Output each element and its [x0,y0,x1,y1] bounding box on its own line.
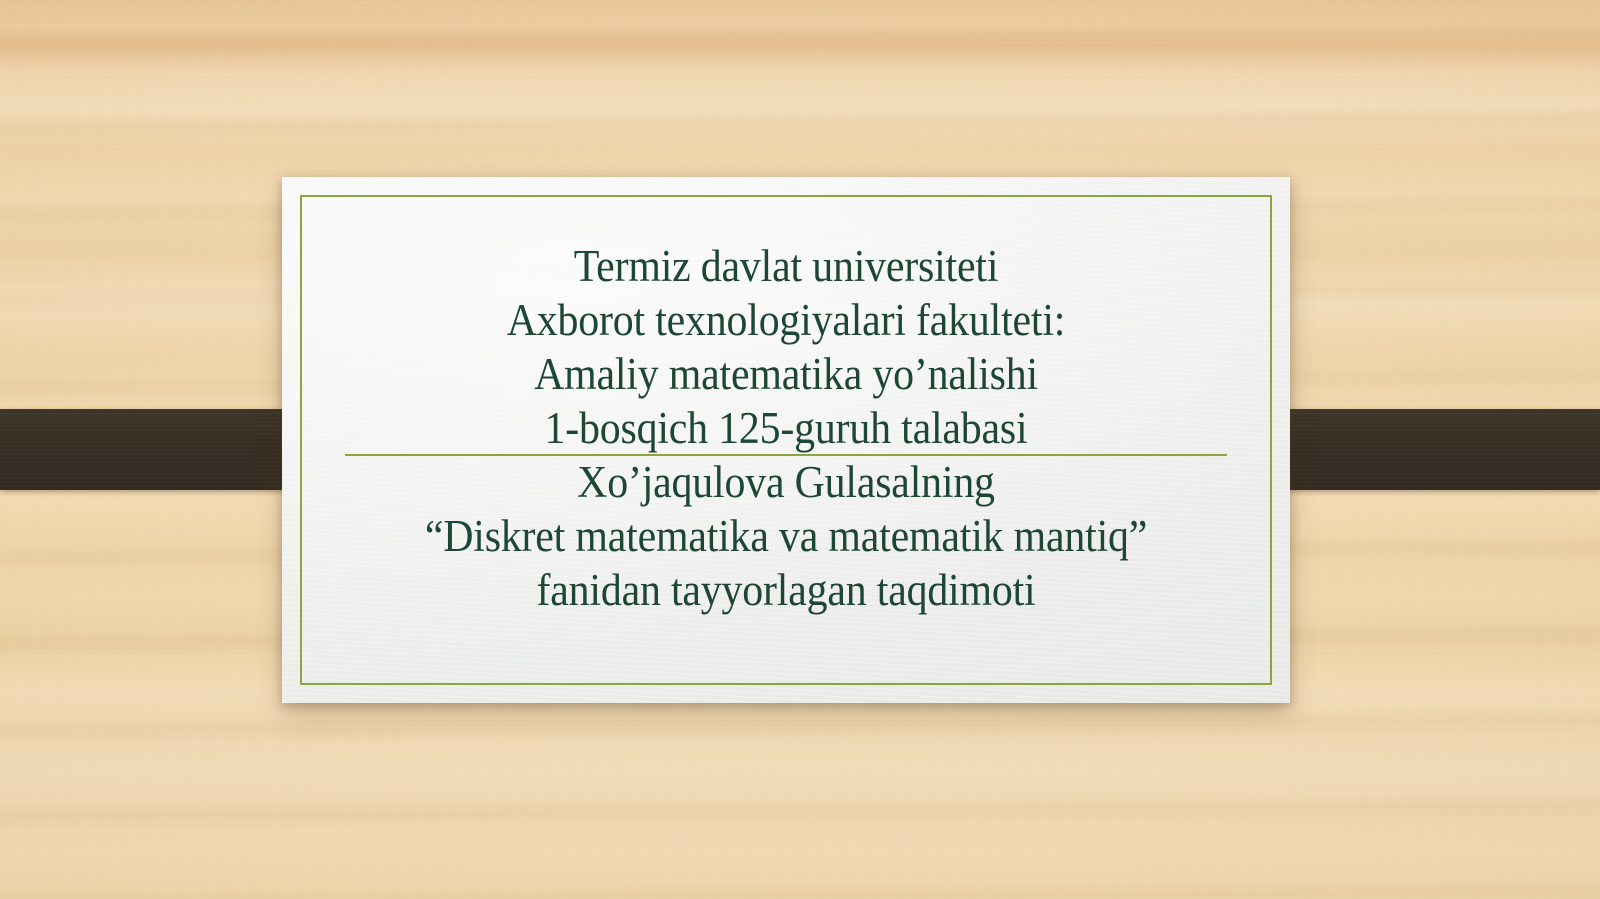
presentation-slide: Termiz davlat universiteti Axborot texno… [0,0,1600,899]
title-line-2: Axborot texnologiyalari fakulteti: [317,293,1254,347]
ribbon-left-bar [0,409,322,490]
title-card: Termiz davlat universiteti Axborot texno… [282,177,1290,703]
title-text-block: Termiz davlat universiteti Axborot texno… [317,239,1254,617]
title-line-3: Amaliy matematika yo’nalishi [317,347,1254,401]
title-line-5: Xo’jaqulova Gulasalning [317,455,1254,509]
title-line-7: fanidan tayyorlagan taqdimoti [317,563,1254,617]
title-line-4: 1-bosqich 125-guruh talabasi [317,401,1254,455]
title-line-1: Termiz davlat universiteti [317,239,1254,293]
ribbon-right-bar [1248,409,1600,490]
title-line-6: “Diskret matematika va matematik mantiq” [317,509,1254,563]
